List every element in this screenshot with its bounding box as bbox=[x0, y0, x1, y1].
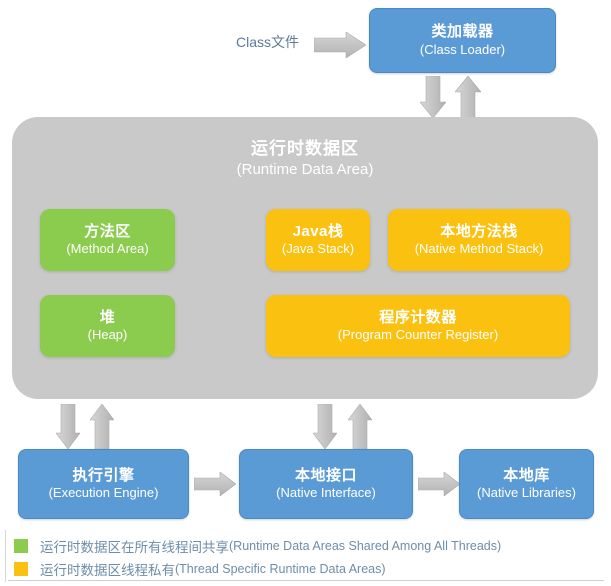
runtime-data-area-title-en: (Runtime Data Area) bbox=[12, 161, 598, 179]
native-libraries-en: (Native Libraries) bbox=[477, 486, 576, 501]
region-program-counter-register[interactable]: 程序计数器 (Program Counter Register) bbox=[266, 295, 570, 357]
legend-shared-en: (Runtime Data Areas Shared Among All Thr… bbox=[229, 539, 501, 553]
region-native-method-stack-cn: 本地方法栈 bbox=[440, 223, 518, 240]
execution-engine-en: (Execution Engine) bbox=[49, 486, 159, 501]
runtime-data-area-title-cn: 运行时数据区 bbox=[12, 139, 598, 159]
region-program-counter-register-en: (Program Counter Register) bbox=[338, 328, 498, 343]
native-interface-box[interactable]: 本地接口 (Native Interface) bbox=[239, 449, 413, 519]
runtime-data-area-title: 运行时数据区 (Runtime Data Area) bbox=[12, 139, 598, 179]
legend-swatch-green bbox=[14, 539, 28, 553]
native-interface-cn: 本地接口 bbox=[295, 467, 357, 484]
region-method-area-cn: 方法区 bbox=[84, 223, 131, 240]
region-native-method-stack-en: (Native Method Stack) bbox=[415, 242, 544, 257]
region-heap-en: (Heap) bbox=[88, 328, 128, 343]
region-program-counter-register-cn: 程序计数器 bbox=[379, 309, 457, 326]
bottom-divider bbox=[8, 580, 604, 581]
arrow-classloader-to-runtime-down bbox=[420, 76, 446, 118]
arrow-runtime-to-classloader-up bbox=[455, 76, 481, 118]
native-libraries-box[interactable]: 本地库 (Native Libraries) bbox=[459, 449, 594, 519]
execution-engine-box[interactable]: 执行引擎 (Execution Engine) bbox=[18, 449, 189, 519]
left-divider bbox=[5, 530, 6, 582]
arrow-native-interface-to-runtime-up bbox=[348, 404, 372, 449]
legend: 运行时数据区在所有线程间共享 (Runtime Data Areas Share… bbox=[14, 536, 594, 582]
class-loader-box[interactable]: 类加载器 (Class Loader) bbox=[369, 8, 556, 73]
arrow-execution-engine-to-runtime-up bbox=[90, 404, 114, 449]
jvm-architecture-diagram: Class文件 类加载器 (Class Loader) bbox=[0, 0, 611, 586]
legend-shared-cn: 运行时数据区在所有线程间共享 bbox=[40, 536, 229, 556]
execution-engine-cn: 执行引擎 bbox=[72, 467, 134, 484]
runtime-data-area-container: 运行时数据区 (Runtime Data Area) 方法区 (Method A… bbox=[12, 117, 598, 399]
region-method-area[interactable]: 方法区 (Method Area) bbox=[40, 209, 175, 271]
region-java-stack-en: (Java Stack) bbox=[282, 242, 354, 257]
arrow-runtime-to-execution-engine-down bbox=[56, 404, 80, 449]
arrow-native-interface-to-native-libraries bbox=[418, 472, 460, 496]
region-heap-cn: 堆 bbox=[100, 309, 116, 326]
class-file-label: Class文件 bbox=[236, 32, 299, 52]
region-java-stack[interactable]: Java栈 (Java Stack) bbox=[266, 209, 370, 271]
native-interface-en: (Native Interface) bbox=[276, 486, 376, 501]
region-method-area-en: (Method Area) bbox=[66, 242, 148, 257]
class-loader-title-cn: 类加载器 bbox=[431, 23, 493, 40]
arrow-classfile-to-classloader bbox=[314, 32, 366, 58]
region-heap[interactable]: 堆 (Heap) bbox=[40, 295, 175, 357]
region-native-method-stack[interactable]: 本地方法栈 (Native Method Stack) bbox=[388, 209, 570, 271]
legend-thread-specific-cn: 运行时数据区线程私有 bbox=[40, 559, 175, 579]
legend-item-thread-specific: 运行时数据区线程私有 (Thread Specific Runtime Data… bbox=[14, 559, 594, 579]
native-libraries-cn: 本地库 bbox=[503, 467, 550, 484]
legend-swatch-orange bbox=[14, 562, 28, 576]
arrow-runtime-to-native-interface-down bbox=[313, 404, 337, 449]
legend-thread-specific-en: (Thread Specific Runtime Data Areas) bbox=[175, 562, 386, 576]
legend-item-shared: 运行时数据区在所有线程间共享 (Runtime Data Areas Share… bbox=[14, 536, 594, 556]
region-java-stack-cn: Java栈 bbox=[293, 223, 344, 240]
class-loader-title-en: (Class Loader) bbox=[420, 43, 505, 58]
arrow-execution-engine-to-native-interface bbox=[194, 472, 236, 496]
